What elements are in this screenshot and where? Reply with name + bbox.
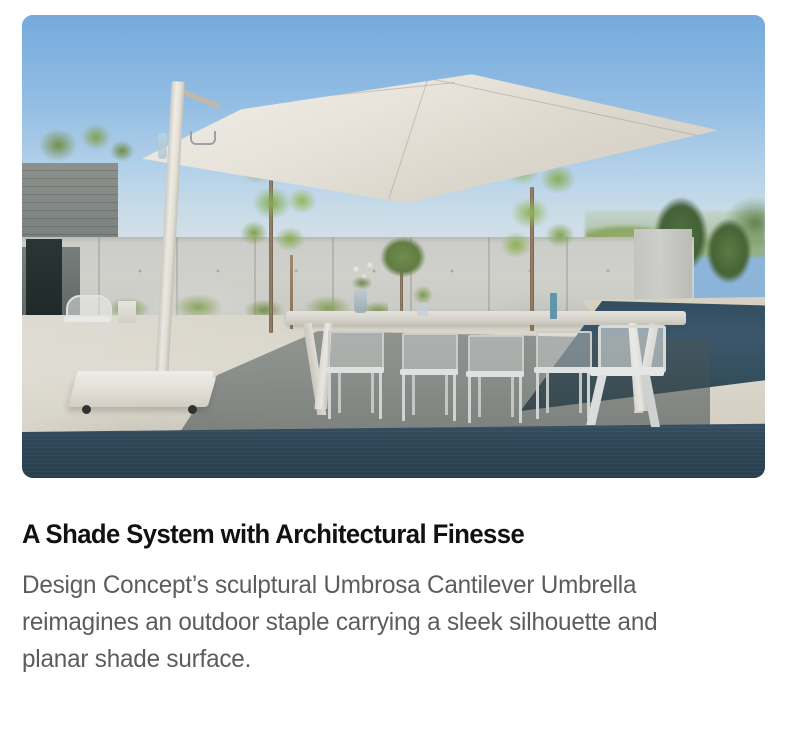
chair-leg (338, 373, 341, 413)
article-headline: A Shade System with Architectural Finess… (22, 518, 725, 550)
base-caster-wheel (82, 405, 91, 414)
chair-seat (400, 369, 458, 375)
umbrella-base (68, 377, 217, 407)
chair-leg (468, 377, 471, 423)
lounge-leg (67, 322, 70, 342)
chair-seat (534, 367, 592, 373)
chair-leg (519, 377, 522, 423)
chair-leg (445, 375, 448, 415)
lounge-leg (105, 322, 108, 342)
small-vase (417, 303, 428, 316)
canopy-seam-line (388, 77, 429, 199)
chair-leg (402, 375, 405, 421)
chair-back (598, 325, 666, 373)
photo-scene (22, 15, 765, 478)
chair-seat (326, 367, 384, 373)
chair-back (468, 335, 524, 375)
chair-back (536, 331, 592, 371)
chair-back (402, 333, 458, 373)
chair-leg (641, 375, 660, 427)
chair-leg (546, 373, 549, 413)
chair-leg (328, 373, 331, 419)
chair-back (328, 331, 384, 371)
mast-clip-icon (190, 131, 216, 145)
chair-leg (579, 373, 582, 413)
lounge-seat (64, 317, 110, 322)
chair-leg (586, 375, 607, 425)
doorway-opening (26, 239, 62, 319)
teal-tabletop-object (550, 293, 557, 319)
chair-leg (379, 373, 382, 419)
base-caster-wheel (188, 405, 197, 414)
lounge-chair (66, 295, 110, 341)
chair-leg (453, 375, 456, 421)
chair-seat (466, 371, 524, 377)
article-hero-image (22, 15, 765, 478)
chair-leg (478, 377, 481, 417)
mast-hardware (158, 133, 167, 159)
chair-leg (536, 373, 539, 419)
chair-leg (511, 377, 514, 417)
planter-pot (118, 301, 136, 323)
article-card: A Shade System with Architectural Finess… (0, 0, 800, 752)
chair-leg (412, 375, 415, 415)
chair-leg (371, 373, 374, 413)
glass-vase (354, 289, 367, 313)
article-body-text: Design Concept’s sculptural Umbrosa Cant… (22, 567, 717, 678)
foreground-dining-chair (588, 325, 664, 421)
dining-table-top (286, 311, 686, 325)
